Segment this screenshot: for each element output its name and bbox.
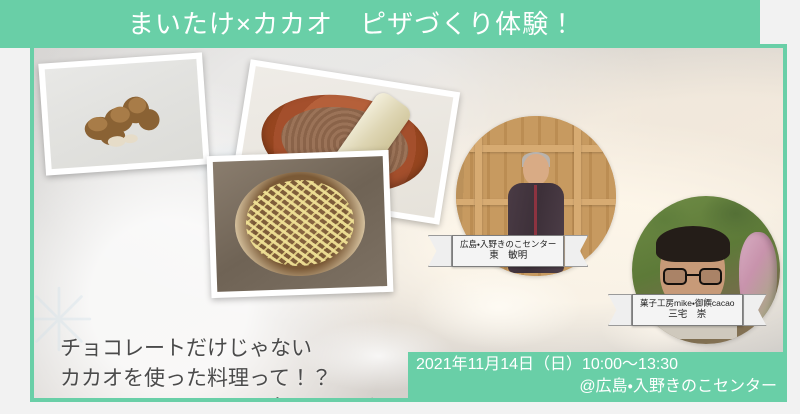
- content-frame: チョコレートだけじゃない カカオを使った料理って！？ まいたけとカカオの異色のコ…: [30, 44, 787, 402]
- ribbon-plate: 広島・入野きのこセンター 東 敏明: [452, 235, 564, 267]
- event-venue: @広島・入野きのこセンター: [416, 376, 777, 398]
- ribbon-person-name: 東 敏明: [460, 250, 556, 262]
- title-band: まいたけ×カカオ ピザづくり体験！: [0, 0, 760, 48]
- poster-root: チョコレートだけじゃない カカオを使った料理って！？ まいたけとカカオの異色のコ…: [0, 0, 800, 414]
- catch-copy: チョコレートだけじゃない カカオを使った料理って！？ まいたけとカカオの異色のコ…: [60, 334, 450, 402]
- ribbon-tail-left: [428, 235, 452, 267]
- ribbon-person-name: 三宅 崇: [640, 309, 735, 321]
- event-info-box: 2021年11月14日（日）10:00〜13:30 @広島・入野きのこセンター: [408, 352, 783, 400]
- catch-copy-line-2: カカオを使った料理って！？: [60, 364, 450, 394]
- catch-copy-line-1: チョコレートだけじゃない: [60, 334, 450, 364]
- ribbon-tail-right: [743, 294, 767, 326]
- photo-maitake-mushrooms: [38, 52, 209, 175]
- ribbon-organization: 広島・入野きのこセンター: [460, 239, 556, 250]
- catch-copy-line-3: まいたけとカカオの異色のコラボ！: [60, 394, 450, 402]
- page-title: まいたけ×カカオ ピザづくり体験！: [128, 11, 576, 37]
- ribbon-tail-left: [608, 294, 632, 326]
- ribbon-plate: 菓子工房mike・御饌cacao 三宅 崇: [632, 294, 743, 326]
- ribbon-tail-right: [564, 235, 588, 267]
- ribbon-organization: 菓子工房mike・御饌cacao: [640, 298, 735, 309]
- ribbon-higashi: 広島・入野きのこセンター 東 敏明: [428, 235, 588, 267]
- ribbon-miyake: 菓子工房mike・御饌cacao 三宅 崇: [608, 294, 767, 326]
- photo-cheese-pizza: [207, 150, 394, 298]
- event-datetime: 2021年11月14日（日）10:00〜13:30: [416, 353, 777, 376]
